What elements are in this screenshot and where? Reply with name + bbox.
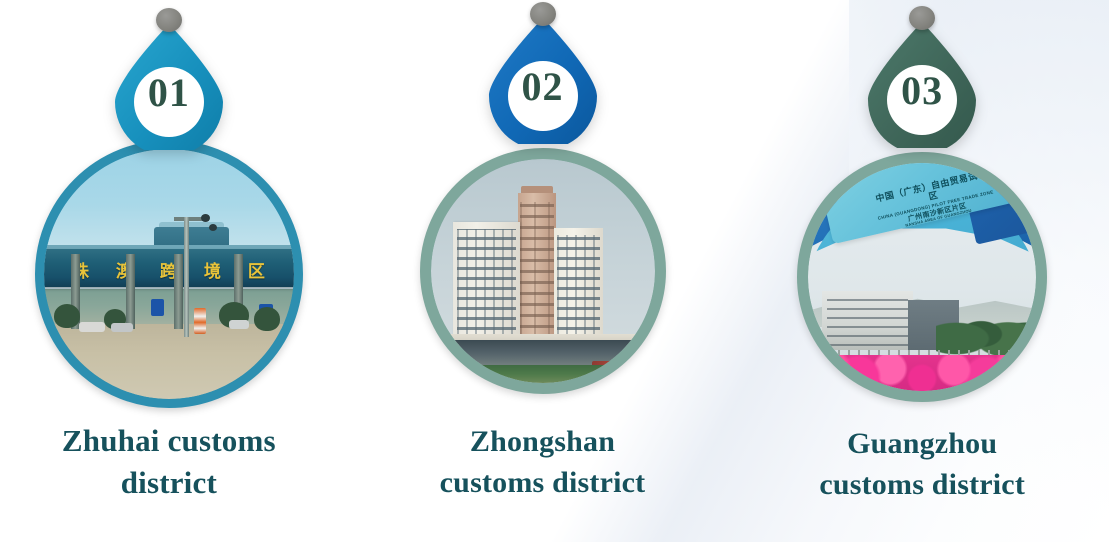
- pin-marker-03[interactable]: 03: [860, 6, 984, 148]
- caption-line-1: Zhongshan: [356, 422, 730, 463]
- mast-lamp: [201, 214, 210, 222]
- teardrop-badge-icon: 01: [107, 22, 231, 150]
- zhuhai-border-checkpoint-photo: 珠澳跨境区: [44, 149, 294, 399]
- photo-circle-zhuhai[interactable]: 珠澳跨境区: [35, 140, 303, 408]
- tower-windows: [520, 202, 554, 339]
- teardrop-badge-icon: 03: [860, 20, 984, 148]
- parked-car: [79, 322, 105, 332]
- photo-clip: [431, 159, 655, 383]
- left-tower: [453, 222, 520, 345]
- tower-windows: [457, 229, 516, 340]
- photo-clip: 中国（广东）自由贸易试验区 CHINA (GUANGDONG) PILOT FR…: [808, 163, 1036, 391]
- pin-head-dot-icon: [530, 2, 556, 26]
- zhongshan-office-towers-photo: [431, 159, 655, 383]
- center-tower: [518, 193, 556, 345]
- building-windows: [827, 297, 907, 347]
- pin-number-label: 03: [901, 71, 943, 111]
- customs-districts-infographic: 01 珠澳跨境区: [0, 0, 1109, 542]
- parked-car: [229, 320, 249, 329]
- pin-marker-02[interactable]: 02: [481, 2, 605, 144]
- mast-lamp-2: [209, 224, 217, 231]
- teardrop-badge-icon: 02: [481, 16, 605, 144]
- pin-marker-01[interactable]: 01: [107, 8, 231, 150]
- landscaping: [439, 365, 645, 383]
- district-card-zhongshan[interactable]: 02: [356, 0, 730, 542]
- district-caption-zhuhai: Zhuhai customs district: [0, 420, 356, 504]
- pin-number-label: 02: [522, 67, 564, 107]
- caption-line-2: district: [0, 462, 356, 504]
- caption-line-1: Guangzhou: [735, 424, 1109, 465]
- photo-circle-guangzhou[interactable]: 中国（广东）自由贸易试验区 CHINA (GUANGDONG) PILOT FR…: [797, 152, 1047, 402]
- light-mast: [184, 217, 189, 337]
- tower-windows: [557, 235, 600, 340]
- pin-head-dot-icon: [156, 8, 182, 32]
- roadside-tree: [254, 307, 280, 331]
- traffic-cone: [194, 308, 206, 334]
- pin-number-label: 01: [148, 73, 190, 113]
- road-sign: [151, 299, 164, 316]
- district-card-zhuhai[interactable]: 01 珠澳跨境区: [0, 0, 356, 542]
- road-surface: [44, 324, 294, 399]
- flower-bed: [808, 355, 1036, 391]
- guangzhou-ftz-arch-photo: 中国（广东）自由贸易试验区 CHINA (GUANGDONG) PILOT FR…: [808, 163, 1036, 391]
- photo-circle-zhongshan[interactable]: [420, 148, 666, 394]
- roadside-tree: [54, 304, 80, 328]
- caption-line-2: customs district: [735, 465, 1109, 506]
- district-caption-zhongshan: Zhongshan customs district: [356, 422, 730, 503]
- caption-line-2: customs district: [356, 463, 730, 504]
- pin-head-dot-icon: [909, 6, 935, 30]
- tree-row: [936, 300, 1036, 355]
- gantry-pillar: [174, 254, 183, 329]
- caption-line-1: Zhuhai customs: [0, 420, 356, 462]
- district-caption-guangzhou: Guangzhou customs district: [735, 424, 1109, 505]
- office-building: [822, 291, 913, 350]
- right-tower: [554, 228, 603, 344]
- parked-car: [111, 323, 133, 332]
- gantry-pillar: [126, 254, 135, 329]
- gantry-sign-text: 珠澳跨境区: [59, 255, 279, 283]
- photo-clip: 珠澳跨境区: [44, 149, 294, 399]
- district-card-guangzhou[interactable]: 03: [735, 0, 1109, 542]
